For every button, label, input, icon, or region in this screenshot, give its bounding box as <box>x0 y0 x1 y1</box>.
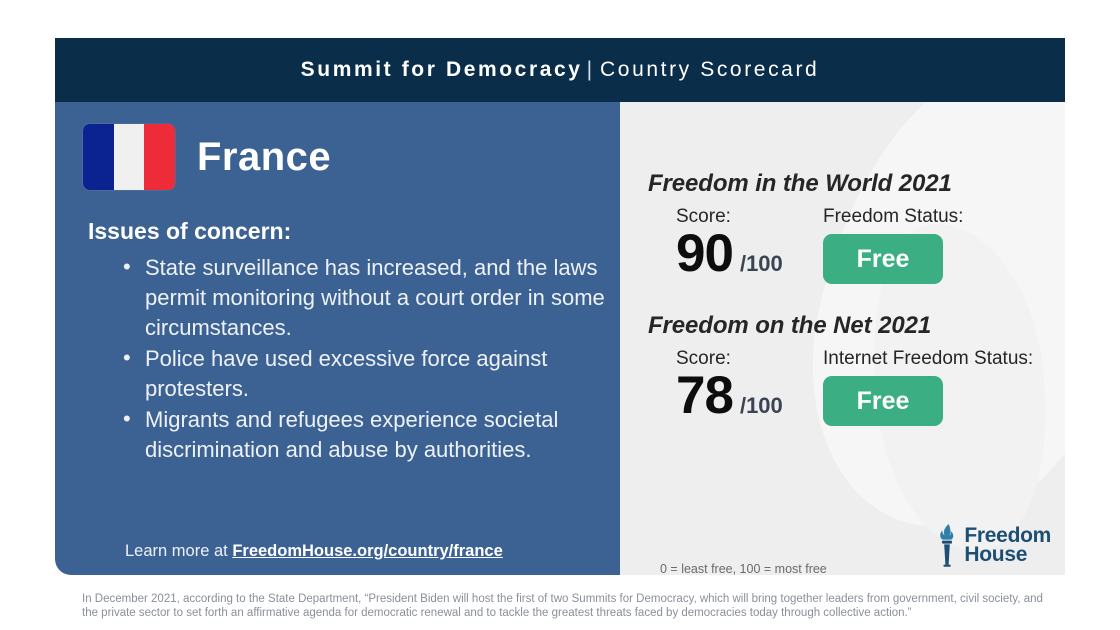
score-denominator: /100 <box>740 251 783 277</box>
report-freedom-in-the-world: Freedom in the World 2021 Score: 90 /100… <box>648 102 1065 284</box>
france-flag-icon <box>83 124 175 190</box>
flag-band-white <box>114 124 145 190</box>
country-heading: France <box>83 124 620 190</box>
footnote: In December 2021, according to the State… <box>82 592 1046 620</box>
report-freedom-on-the-net: Freedom on the Net 2021 Score: 78 /100 I… <box>648 284 1065 426</box>
header-title-secondary: Country Scorecard <box>600 58 819 82</box>
card-header: Summit for Democracy | Country Scorecard <box>55 38 1065 102</box>
country-scorecard-card: Summit for Democracy | Country Scorecard… <box>55 38 1065 575</box>
freedomhouse-country-link[interactable]: FreedomHouse.org/country/france <box>232 542 502 560</box>
score-block: Score: 90 /100 <box>648 206 823 282</box>
score-denominator: /100 <box>740 393 783 419</box>
page-title: France <box>197 135 331 180</box>
learn-more: Learn more at FreedomHouse.org/country/f… <box>125 542 503 561</box>
header-title-primary: Summit for Democracy <box>301 58 583 82</box>
learn-more-prefix: Learn more at <box>125 542 232 560</box>
scale-note: 0 = least free, 100 = most free <box>660 562 827 575</box>
freedom-house-logo: Freedom House <box>937 523 1051 567</box>
status-badge: Free <box>823 234 943 284</box>
score-block: Score: 78 /100 <box>648 348 823 424</box>
list-item: State surveillance has increased, and th… <box>123 253 613 343</box>
scores-panel: Freedom in the World 2021 Score: 90 /100… <box>620 102 1065 575</box>
issues-list: State surveillance has increased, and th… <box>123 253 620 465</box>
torch-icon <box>937 523 959 567</box>
flag-band-red <box>144 124 175 190</box>
score-value: 78 <box>676 368 733 424</box>
status-label: Freedom Status: <box>823 206 963 228</box>
logo-line-2: House <box>964 545 1051 564</box>
report-title: Freedom in the World 2021 <box>648 170 1065 198</box>
issues-heading: Issues of concern: <box>88 218 620 245</box>
flag-band-blue <box>83 124 114 190</box>
status-block: Internet Freedom Status: Free <box>823 348 1033 426</box>
list-item: Police have used excessive force against… <box>123 344 613 404</box>
country-info-panel: France Issues of concern: State surveill… <box>55 102 620 575</box>
card-body: France Issues of concern: State surveill… <box>55 102 1065 575</box>
report-title: Freedom on the Net 2021 <box>648 312 1065 340</box>
score-value: 90 <box>676 226 733 282</box>
status-block: Freedom Status: Free <box>823 206 963 284</box>
list-item: Migrants and refugees experience societa… <box>123 405 613 465</box>
status-badge: Free <box>823 376 943 426</box>
status-label: Internet Freedom Status: <box>823 348 1033 370</box>
header-separator: | <box>587 58 592 82</box>
